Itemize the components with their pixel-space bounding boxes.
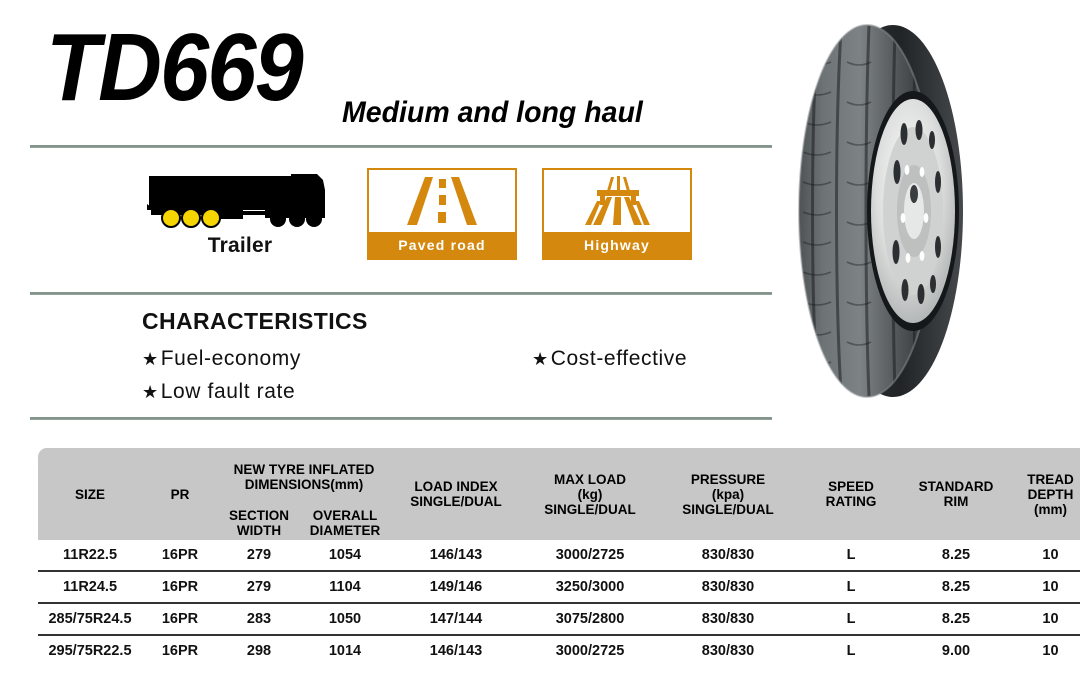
cell-size: 11R22.5 — [38, 540, 142, 571]
specification-table: SIZE PR NEW TYRE INFLATED DIMENSIONS(mm)… — [38, 448, 1080, 666]
table-body: 11R22.5 16PR 279 1054 146/143 3000/2725 … — [38, 540, 1080, 666]
max-load-line-2: (kg) — [578, 487, 603, 502]
divider-middle — [30, 292, 772, 295]
characteristic-label: Cost-effective — [551, 347, 687, 370]
cell-section-width: 298 — [218, 635, 300, 666]
col-header-pressure: PRESSURE (kpa) SINGLE/DUAL — [658, 448, 798, 540]
application-badge-paved-road[interactable]: Paved road — [367, 168, 517, 260]
overall-line-2: DIAMETER — [310, 523, 381, 538]
cell-speed-rating: L — [798, 635, 904, 666]
cell-max-load: 3000/2725 — [522, 635, 658, 666]
cell-pr: 16PR — [142, 635, 218, 666]
tread-line-1: TREAD — [1027, 472, 1074, 487]
load-index-line-2: SINGLE/DUAL — [410, 494, 502, 509]
tread-line-3: (mm) — [1034, 502, 1067, 517]
cell-speed-rating: L — [798, 571, 904, 603]
cell-size: 285/75R24.5 — [38, 603, 142, 635]
section-line-2: WIDTH — [237, 523, 281, 538]
tread-line-2: DEPTH — [1028, 487, 1074, 502]
cell-tread-depth: 10 — [1008, 540, 1080, 571]
semi-trailer-truck-icon — [145, 170, 335, 232]
cell-overall-diameter: 1054 — [300, 540, 390, 571]
characteristic-item: ★Cost-effective — [532, 347, 687, 371]
application-row: Trailer Paved road — [140, 168, 740, 273]
col-header-size: SIZE — [38, 448, 142, 540]
paved-road-icon — [403, 175, 481, 227]
cell-tread-depth: 10 — [1008, 603, 1080, 635]
table-row: 285/75R24.5 16PR 283 1050 147/144 3075/2… — [38, 603, 1080, 635]
specification-table-wrap: SIZE PR NEW TYRE INFLATED DIMENSIONS(mm)… — [38, 448, 1047, 666]
characteristic-item: ★Low fault rate — [142, 380, 295, 404]
cell-load-index: 147/144 — [390, 603, 522, 635]
cell-size: 11R24.5 — [38, 571, 142, 603]
cell-pr: 16PR — [142, 603, 218, 635]
cell-pr: 16PR — [142, 540, 218, 571]
max-load-line-3: SINGLE/DUAL — [544, 502, 636, 517]
page-title: TD669 — [46, 16, 302, 120]
cell-section-width: 283 — [218, 603, 300, 635]
characteristic-label: Low fault rate — [161, 380, 295, 403]
col-header-standard-rim: STANDARD RIM — [904, 448, 1008, 540]
table-row: 295/75R22.5 16PR 298 1014 146/143 3000/2… — [38, 635, 1080, 666]
cell-pressure: 830/830 — [658, 603, 798, 635]
cell-pressure: 830/830 — [658, 571, 798, 603]
col-header-dimensions-group: NEW TYRE INFLATED DIMENSIONS(mm) — [218, 448, 390, 506]
col-header-section-width: SECTION WIDTH — [218, 506, 300, 540]
title-block: TD669 Medium and long haul — [46, 16, 766, 136]
cell-max-load: 3000/2725 — [522, 540, 658, 571]
col-header-max-load: MAX LOAD (kg) SINGLE/DUAL — [522, 448, 658, 540]
rim-line-2: RIM — [944, 494, 969, 509]
dimensions-line-2: DIMENSIONS(mm) — [245, 477, 364, 492]
max-load-line-1: MAX LOAD — [554, 472, 626, 487]
highway-label: Highway — [544, 232, 690, 258]
characteristics-section: CHARACTERISTICS ★Fuel-economy ★Cost-effe… — [142, 308, 782, 347]
cell-overall-diameter: 1050 — [300, 603, 390, 635]
characteristic-item: ★Fuel-economy — [142, 347, 301, 371]
cell-tread-depth: 10 — [1008, 635, 1080, 666]
characteristic-label: Fuel-economy — [161, 347, 301, 370]
cell-standard-rim: 8.25 — [904, 603, 1008, 635]
page-subtitle: Medium and long haul — [342, 96, 643, 130]
divider-bottom — [30, 417, 772, 420]
cell-overall-diameter: 1014 — [300, 635, 390, 666]
table-header: SIZE PR NEW TYRE INFLATED DIMENSIONS(mm)… — [38, 448, 1080, 540]
cell-standard-rim: 9.00 — [904, 635, 1008, 666]
pressure-line-2: (kpa) — [712, 487, 744, 502]
col-header-speed-rating: SPEED RATING — [798, 448, 904, 540]
table-row: 11R22.5 16PR 279 1054 146/143 3000/2725 … — [38, 540, 1080, 571]
pressure-line-1: PRESSURE — [691, 472, 765, 487]
cell-pressure: 830/830 — [658, 635, 798, 666]
star-bullet-icon: ★ — [532, 349, 549, 369]
cell-standard-rim: 8.25 — [904, 571, 1008, 603]
paved-road-label: Paved road — [369, 232, 515, 258]
col-header-pr: PR — [142, 448, 218, 540]
col-header-overall-diameter: OVERALL DIAMETER — [300, 506, 390, 540]
star-bullet-icon: ★ — [142, 382, 159, 402]
rim-line-1: STANDARD — [919, 479, 994, 494]
cell-load-index: 146/143 — [390, 635, 522, 666]
cell-max-load: 3075/2800 — [522, 603, 658, 635]
cell-speed-rating: L — [798, 540, 904, 571]
speed-line-1: SPEED — [828, 479, 874, 494]
cell-speed-rating: L — [798, 603, 904, 635]
cell-max-load: 3250/3000 — [522, 571, 658, 603]
section-line-1: SECTION — [229, 508, 289, 523]
cell-tread-depth: 10 — [1008, 571, 1080, 603]
vehicle-type-trailer: Trailer — [140, 170, 340, 258]
cell-section-width: 279 — [218, 540, 300, 571]
cell-pressure: 830/830 — [658, 540, 798, 571]
highway-icon-wrap — [544, 170, 690, 232]
highway-interchange-icon — [577, 175, 657, 227]
col-header-load-index: LOAD INDEX SINGLE/DUAL — [390, 448, 522, 540]
divider-top — [30, 145, 772, 148]
cell-size: 295/75R22.5 — [38, 635, 142, 666]
star-bullet-icon: ★ — [142, 349, 159, 369]
product-tyre-image — [795, 22, 980, 400]
speed-line-2: RATING — [826, 494, 877, 509]
application-badge-highway[interactable]: Highway — [542, 168, 692, 260]
load-index-line-1: LOAD INDEX — [414, 479, 497, 494]
cell-standard-rim: 8.25 — [904, 540, 1008, 571]
cell-pr: 16PR — [142, 571, 218, 603]
pressure-line-3: SINGLE/DUAL — [682, 502, 774, 517]
cell-section-width: 279 — [218, 571, 300, 603]
cell-overall-diameter: 1104 — [300, 571, 390, 603]
table-header-row-main: SIZE PR NEW TYRE INFLATED DIMENSIONS(mm)… — [38, 448, 1080, 506]
paved-road-icon-wrap — [369, 170, 515, 232]
vehicle-type-label: Trailer — [140, 234, 340, 258]
characteristics-title: CHARACTERISTICS — [142, 308, 782, 335]
col-header-tread-depth: TREAD DEPTH (mm) — [1008, 448, 1080, 540]
table-row: 11R24.5 16PR 279 1104 149/146 3250/3000 … — [38, 571, 1080, 603]
dimensions-line-1: NEW TYRE INFLATED — [234, 462, 375, 477]
cell-load-index: 146/143 — [390, 540, 522, 571]
cell-load-index: 149/146 — [390, 571, 522, 603]
overall-line-1: OVERALL — [313, 508, 378, 523]
